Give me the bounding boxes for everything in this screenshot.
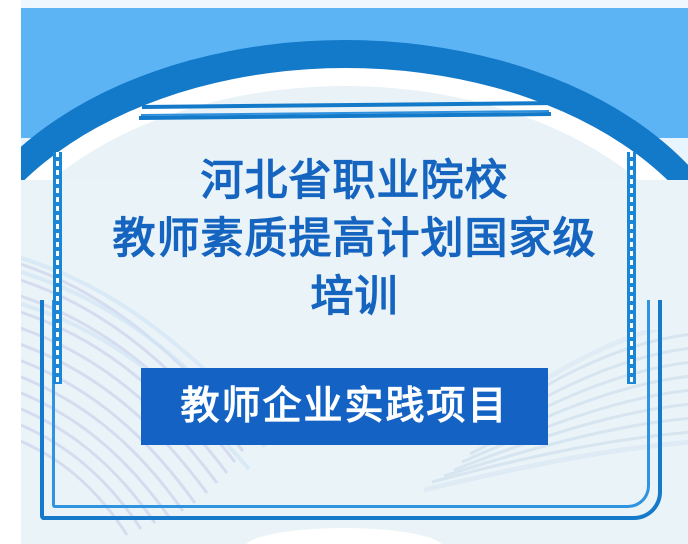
poster-canvas: 河北省职业院校 教师素质提高计划国家级 培训 教师企业实践项目 xyxy=(0,0,688,544)
poster-title: 河北省职业院校 教师素质提高计划国家级 培训 xyxy=(21,152,688,326)
top-gutter xyxy=(21,0,688,8)
title-line-2: 教师素质提高计划国家级 xyxy=(21,210,688,268)
program-badge: 教师企业实践项目 xyxy=(141,368,548,445)
program-badge-label: 教师企业实践项目 xyxy=(180,387,508,426)
left-gutter xyxy=(0,0,21,544)
title-line-1: 河北省职业院校 xyxy=(21,152,688,210)
title-line-3: 培训 xyxy=(21,268,688,326)
